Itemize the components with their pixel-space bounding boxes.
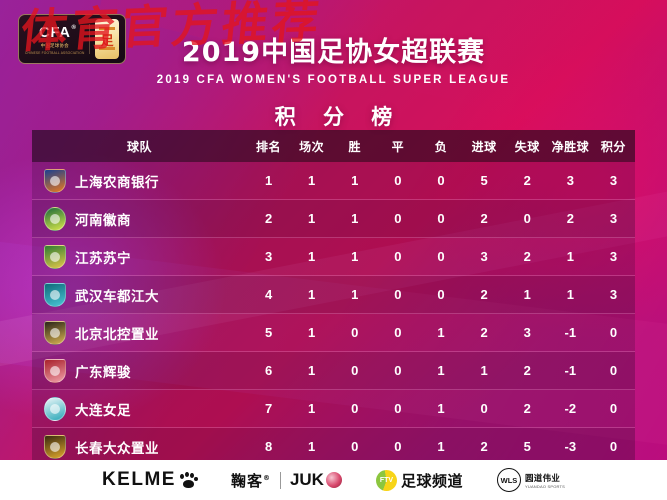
cell-goal-diff: 1 — [549, 249, 592, 264]
cell-loss: 1 — [419, 325, 462, 340]
sponsor-kelme[interactable]: KELME — [102, 469, 197, 491]
cell-played: 1 — [290, 325, 333, 340]
cfa-logo: CFA® 中国足球协会 CHINESE FOOTBALL ASSOCIATION… — [18, 14, 126, 64]
cfa-wordmark: CFA® — [39, 24, 71, 41]
cell-points: 3 — [592, 287, 635, 302]
team-crest-icon — [44, 435, 66, 459]
table-row[interactable]: 广东辉骏6100112-10 — [32, 352, 635, 390]
column-header-gd: 净胜球 — [549, 138, 592, 155]
cfa-emblem-icon: 足 — [95, 19, 119, 59]
cell-played: 1 — [290, 211, 333, 226]
cell-points: 3 — [592, 173, 635, 188]
table-row[interactable]: 河南徽商211002023 — [32, 200, 635, 238]
cell-played: 1 — [290, 173, 333, 188]
column-header-ga: 失球 — [506, 138, 549, 155]
cell-goal-diff: -3 — [549, 439, 592, 454]
wls-name-block: 圆道伟业 YUANDAO SPORTS — [525, 472, 565, 489]
cell-played: 1 — [290, 249, 333, 264]
cell-team: 江苏苏宁 — [32, 245, 247, 269]
cell-rank: 5 — [247, 325, 290, 340]
team-crest-icon — [44, 207, 66, 231]
cell-team: 武汉车都江大 — [32, 283, 247, 307]
cell-team: 河南徽商 — [32, 207, 247, 231]
team-crest-icon — [44, 397, 66, 421]
table-row[interactable]: 北京北控置业5100123-10 — [32, 314, 635, 352]
ftv-badge-icon: FTV — [376, 470, 397, 491]
cell-draw: 0 — [376, 439, 419, 454]
team-name: 大连女足 — [75, 399, 131, 419]
cell-goal-diff: -2 — [549, 401, 592, 416]
wls-name-en: YUANDAO SPORTS — [525, 484, 565, 489]
juke-flower-icon — [326, 472, 342, 488]
sponsor-ftv[interactable]: FTV 足球频道 — [376, 470, 463, 491]
cell-rank: 1 — [247, 173, 290, 188]
team-name: 北京北控置业 — [75, 323, 159, 343]
cell-win: 0 — [333, 401, 376, 416]
cell-draw: 0 — [376, 363, 419, 378]
cell-played: 1 — [290, 363, 333, 378]
cell-win: 1 — [333, 287, 376, 302]
cell-goals-against: 2 — [506, 401, 549, 416]
table-body: 上海农商银行111005233河南徽商211002023江苏苏宁31100321… — [32, 162, 635, 466]
cell-goal-diff: 2 — [549, 211, 592, 226]
cell-goals-for: 3 — [463, 249, 506, 264]
sponsor-wls[interactable]: WLS 圆道伟业 YUANDAO SPORTS — [497, 468, 565, 492]
cell-played: 1 — [290, 401, 333, 416]
juke-cn-text: 鞠客 — [231, 472, 263, 490]
cell-team: 上海农商银行 — [32, 169, 247, 193]
column-header-team: 球队 — [32, 138, 247, 155]
cell-goal-diff: 1 — [549, 287, 592, 302]
cell-goals-against: 2 — [506, 173, 549, 188]
table-row[interactable]: 大连女足7100102-20 — [32, 390, 635, 428]
kelme-wordmark: KELME — [102, 469, 176, 491]
cell-goals-against: 2 — [506, 249, 549, 264]
team-name: 武汉车都江大 — [75, 285, 159, 305]
cell-loss: 0 — [419, 173, 462, 188]
cell-played: 1 — [290, 439, 333, 454]
cell-goals-for: 2 — [463, 287, 506, 302]
logo-divider — [89, 24, 90, 54]
cell-loss: 0 — [419, 211, 462, 226]
trademark-icon: ® — [263, 474, 271, 482]
table-row[interactable]: 武汉车都江大411002113 — [32, 276, 635, 314]
wls-name-cn: 圆道伟业 — [525, 472, 565, 484]
emblem-char: 足 — [101, 30, 114, 49]
cfa-logo-textblock: CFA® 中国足球协会 CHINESE FOOTBALL ASSOCIATION — [25, 24, 84, 55]
cfa-subtitle-en: CHINESE FOOTBALL ASSOCIATION — [25, 51, 84, 55]
cell-goal-diff: -1 — [549, 363, 592, 378]
column-header-gf: 进球 — [463, 138, 506, 155]
cell-goals-for: 5 — [463, 173, 506, 188]
cell-rank: 2 — [247, 211, 290, 226]
column-header-rank: 排名 — [247, 138, 290, 155]
cell-draw: 0 — [376, 287, 419, 302]
cell-win: 1 — [333, 211, 376, 226]
column-header-team-label: 球队 — [127, 138, 152, 155]
cell-goals-for: 2 — [463, 325, 506, 340]
team-name: 上海农商银行 — [75, 171, 159, 191]
cell-loss: 0 — [419, 249, 462, 264]
team-crest-icon — [44, 321, 66, 345]
team-name: 河南徽商 — [75, 209, 131, 229]
header: CFA® 中国足球协会 CHINESE FOOTBALL ASSOCIATION… — [0, 0, 667, 122]
cell-win: 0 — [333, 363, 376, 378]
cell-team: 长春大众置业 — [32, 435, 247, 459]
cell-points: 0 — [592, 363, 635, 378]
cell-goals-for: 2 — [463, 211, 506, 226]
cfa-subtitle-cn: 中国足球协会 — [41, 43, 69, 49]
column-header-played: 场次 — [290, 138, 333, 155]
page-title-english: 2019 CFA WOMEN'S FOOTBALL SUPER LEAGUE — [0, 74, 667, 86]
cell-win: 0 — [333, 439, 376, 454]
cell-loss: 0 — [419, 287, 462, 302]
sponsor-juke[interactable]: 鞠客® JUK — [231, 470, 342, 491]
cell-win: 1 — [333, 249, 376, 264]
standings-table: 球队 排名 场次 胜 平 负 进球 失球 净胜球 积分 上海农商银行111005… — [32, 130, 635, 466]
column-header-points: 积分 — [592, 138, 635, 155]
cell-team: 广东辉骏 — [32, 359, 247, 383]
cell-goals-against: 2 — [506, 363, 549, 378]
cell-played: 1 — [290, 287, 333, 302]
column-header-draw: 平 — [376, 138, 419, 155]
cell-draw: 0 — [376, 211, 419, 226]
wls-circle-icon: WLS — [497, 468, 521, 492]
wls-mark-text: WLS — [501, 476, 518, 485]
cell-rank: 3 — [247, 249, 290, 264]
cell-rank: 8 — [247, 439, 290, 454]
cell-points: 0 — [592, 325, 635, 340]
cell-draw: 0 — [376, 249, 419, 264]
sponsor-footer: KELME 鞠客® JUK FTV 足球频道 WLS 圆道伟业 YUANDAO … — [0, 460, 667, 500]
cell-rank: 7 — [247, 401, 290, 416]
ftv-channel-name: 足球频道 — [401, 470, 463, 491]
team-name: 长春大众置业 — [75, 437, 159, 457]
table-header-row: 球队 排名 场次 胜 平 负 进球 失球 净胜球 积分 — [32, 130, 635, 162]
cell-loss: 1 — [419, 363, 462, 378]
cell-points: 3 — [592, 211, 635, 226]
page-subtitle: 积 分 榜 — [0, 101, 667, 131]
cell-team: 北京北控置业 — [32, 321, 247, 345]
team-crest-icon — [44, 359, 66, 383]
cell-points: 3 — [592, 249, 635, 264]
cell-goals-for: 2 — [463, 439, 506, 454]
cell-goals-against: 5 — [506, 439, 549, 454]
team-name: 广东辉骏 — [75, 361, 131, 381]
cell-draw: 0 — [376, 325, 419, 340]
cell-goals-for: 0 — [463, 401, 506, 416]
team-crest-icon — [44, 169, 66, 193]
cell-rank: 4 — [247, 287, 290, 302]
juke-wordmark-en: JUK — [290, 470, 324, 490]
team-crest-icon — [44, 283, 66, 307]
paw-icon — [180, 472, 197, 488]
cell-goal-diff: 3 — [549, 173, 592, 188]
cell-win: 0 — [333, 325, 376, 340]
juke-wordmark-cn: 鞠客® — [231, 470, 271, 491]
cell-rank: 6 — [247, 363, 290, 378]
ftv-badge-text: FTV — [380, 477, 393, 484]
cell-loss: 1 — [419, 439, 462, 454]
juke-divider — [280, 472, 281, 489]
table-row[interactable]: 江苏苏宁311003213 — [32, 238, 635, 276]
column-header-loss: 负 — [419, 138, 462, 155]
cell-goals-against: 0 — [506, 211, 549, 226]
registered-icon: ® — [72, 25, 77, 31]
cell-goals-against: 3 — [506, 325, 549, 340]
team-name: 江苏苏宁 — [75, 247, 131, 267]
cell-draw: 0 — [376, 173, 419, 188]
cell-loss: 1 — [419, 401, 462, 416]
cell-goal-diff: -1 — [549, 325, 592, 340]
cell-win: 1 — [333, 173, 376, 188]
cfa-wordmark-text: CFA — [39, 24, 71, 41]
cell-goals-for: 1 — [463, 363, 506, 378]
team-crest-icon — [44, 245, 66, 269]
cell-team: 大连女足 — [32, 397, 247, 421]
cell-goals-against: 1 — [506, 287, 549, 302]
cell-points: 0 — [592, 401, 635, 416]
cell-draw: 0 — [376, 401, 419, 416]
cell-points: 0 — [592, 439, 635, 454]
column-header-win: 胜 — [333, 138, 376, 155]
table-row[interactable]: 上海农商银行111005233 — [32, 162, 635, 200]
